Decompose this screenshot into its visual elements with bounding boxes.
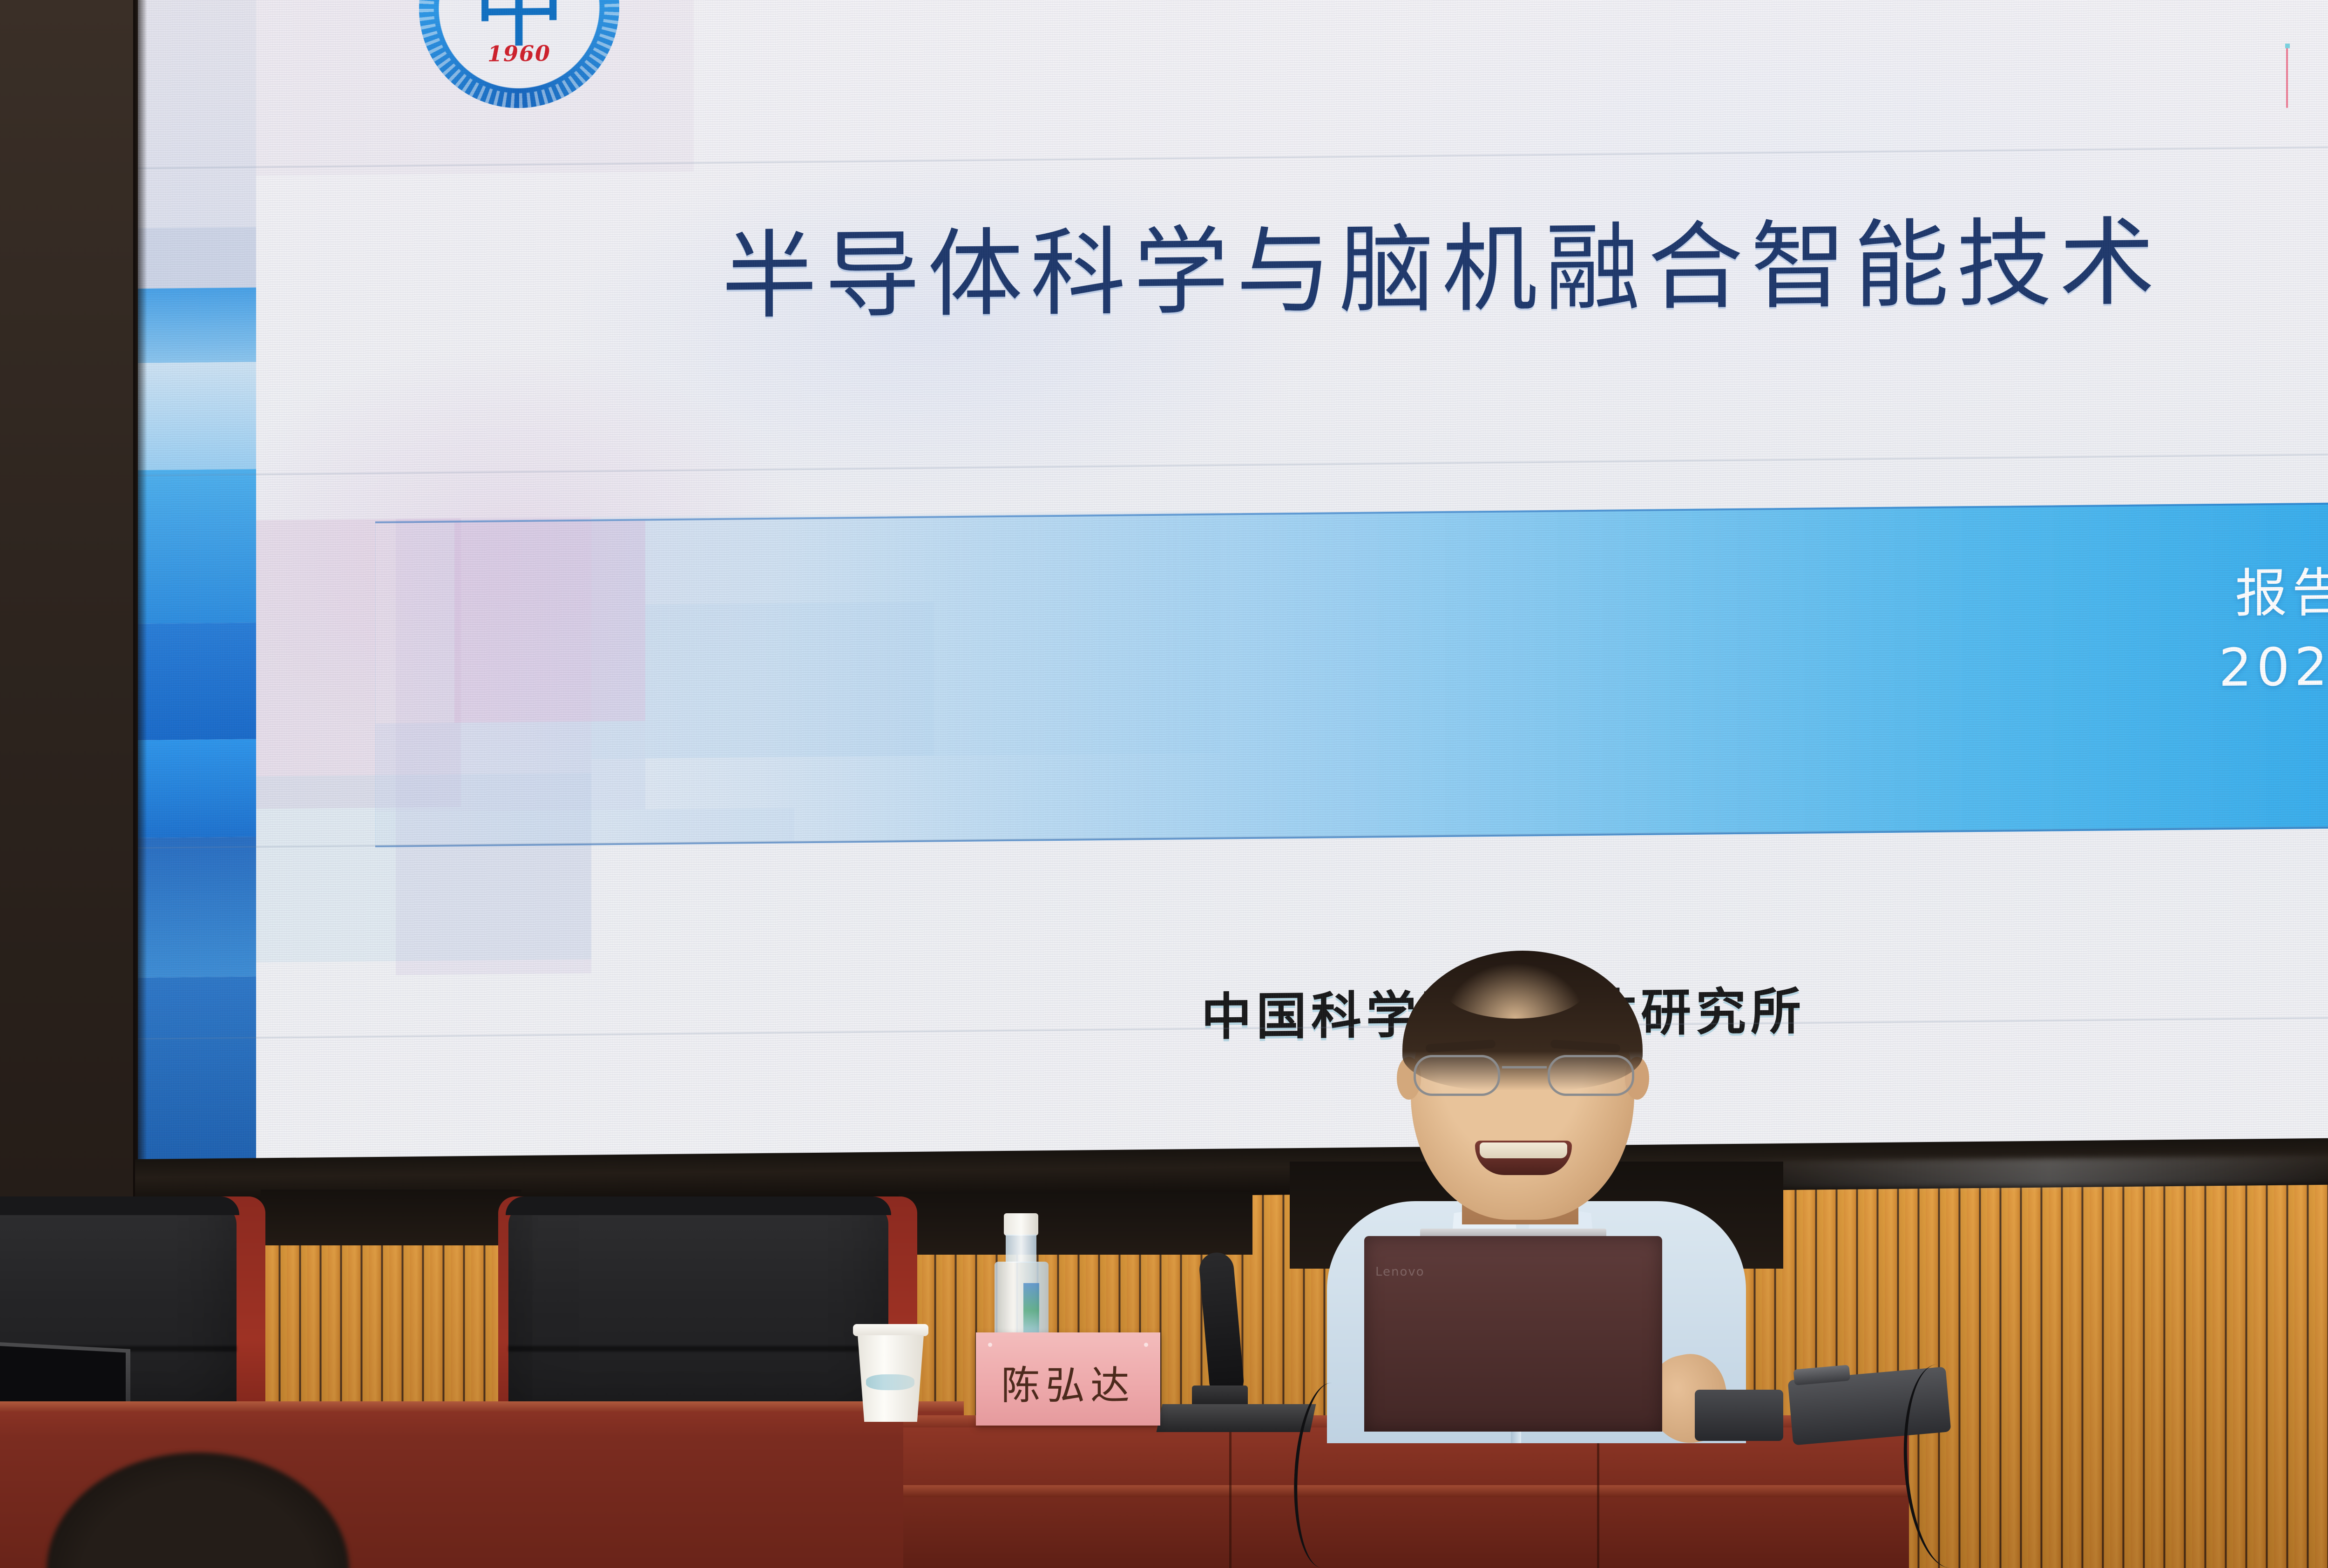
led-presentation-screen: 中 1960 半导体科学与脑机融合智能技术 报告人： 陈弘达 2024年9月18… — [135, 0, 2328, 1196]
gooseneck-microphone — [1192, 1252, 1248, 1434]
left-wall-shadow — [133, 0, 147, 1260]
eyeglasses-icon — [1405, 1055, 1643, 1098]
lecture-hall-photo: 中 1960 半导体科学与脑机融合智能技术 报告人： 陈弘达 2024年9月18… — [0, 0, 2328, 1568]
bezel-specular-highlight — [1723, 1156, 2328, 1190]
chair-back-shadow — [899, 1192, 1252, 1255]
speaker-mouth — [1475, 1141, 1572, 1175]
laptop: Lenovo — [1364, 1236, 1662, 1432]
left-dark-wall — [0, 0, 138, 1260]
laptop-brand-label: Lenovo — [1375, 1265, 1425, 1279]
chair-back-shadow — [261, 1190, 521, 1245]
podium-device — [1695, 1390, 1783, 1441]
name-placard: 陈弘达 — [976, 1332, 1160, 1426]
paper-cup — [856, 1324, 926, 1422]
led-pixel-grid — [135, 0, 2328, 1196]
name-placard-text: 陈弘达 — [976, 1366, 1160, 1405]
